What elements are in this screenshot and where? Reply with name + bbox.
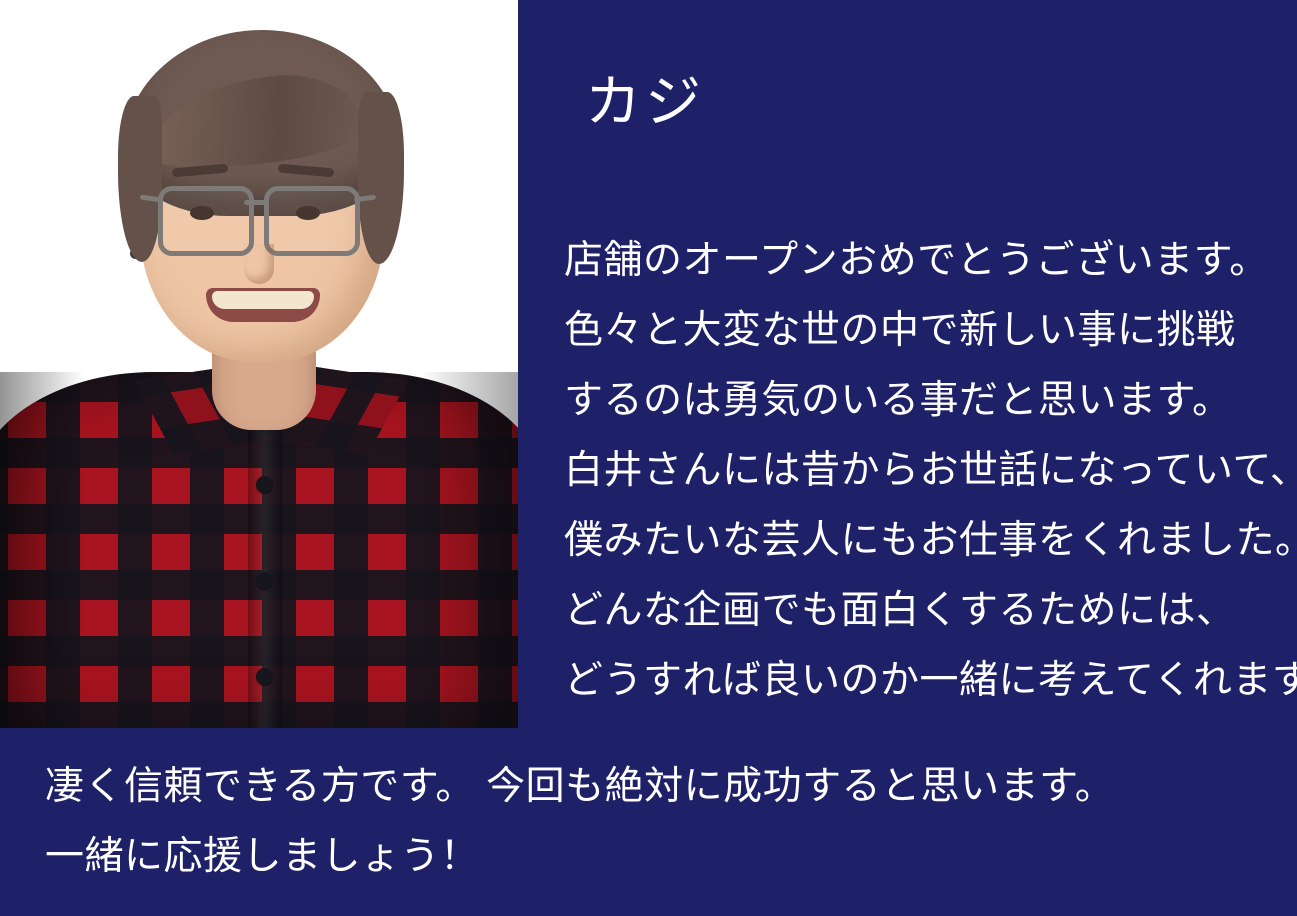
quote-line: 白井さんには昔からお世話になっていて、 bbox=[564, 436, 1294, 506]
quote-line: どうすれば良いのか一緒に考えてくれます。 bbox=[564, 646, 1294, 716]
quote-footer-text: 凄く信頼できる方です。 今回も絶対に成功すると思います。 一緒に応援しましょう！ bbox=[45, 752, 1275, 892]
quote-panel: カジ 店舗のオープンおめでとうございます。 色々と大変な世の中で新しい事に挑戦 … bbox=[518, 0, 1297, 728]
shirt-shadow-right bbox=[420, 372, 518, 728]
shirt-button bbox=[256, 476, 273, 493]
quote-line: どんな企画でも面白くするためには、 bbox=[564, 576, 1294, 646]
quote-line: するのは勇気のいる事だと思います。 bbox=[564, 366, 1294, 436]
teeth bbox=[212, 291, 314, 309]
hair-side-left bbox=[118, 96, 162, 262]
quote-body: 店舗のオープンおめでとうございます。 色々と大変な世の中で新しい事に挑戦 するの… bbox=[564, 226, 1294, 716]
quote-line: 僕みたいな芸人にもお仕事をくれました。 bbox=[564, 506, 1294, 576]
hair-side-right bbox=[358, 92, 404, 264]
shirt-shadow-left bbox=[0, 372, 84, 728]
eyeglasses-lens-left bbox=[158, 186, 254, 256]
quote-footer-line: 一緒に応援しましょう！ bbox=[45, 822, 1275, 892]
quote-line: 店舗のオープンおめでとうございます。 bbox=[564, 226, 1294, 296]
shirt-button bbox=[256, 668, 273, 685]
shirt-button bbox=[256, 572, 273, 589]
portrait-photo bbox=[0, 0, 518, 728]
testimonial-card: カジ 店舗のオープンおめでとうございます。 色々と大変な世の中で新しい事に挑戦 … bbox=[0, 0, 1297, 916]
nose bbox=[244, 244, 274, 284]
quote-footer-band: 凄く信頼できる方です。 今回も絶対に成功すると思います。 一緒に応援しましょう！ bbox=[0, 728, 1297, 916]
person-illustration bbox=[0, 0, 518, 728]
mouth bbox=[206, 288, 320, 322]
eyeglasses-bridge bbox=[244, 200, 266, 205]
quote-footer-line: 凄く信頼できる方です。 今回も絶対に成功すると思います。 bbox=[45, 752, 1275, 822]
speaker-name: カジ bbox=[585, 74, 705, 130]
quote-line: 色々と大変な世の中で新しい事に挑戦 bbox=[564, 296, 1294, 366]
eyeglasses-lens-right bbox=[264, 186, 360, 256]
